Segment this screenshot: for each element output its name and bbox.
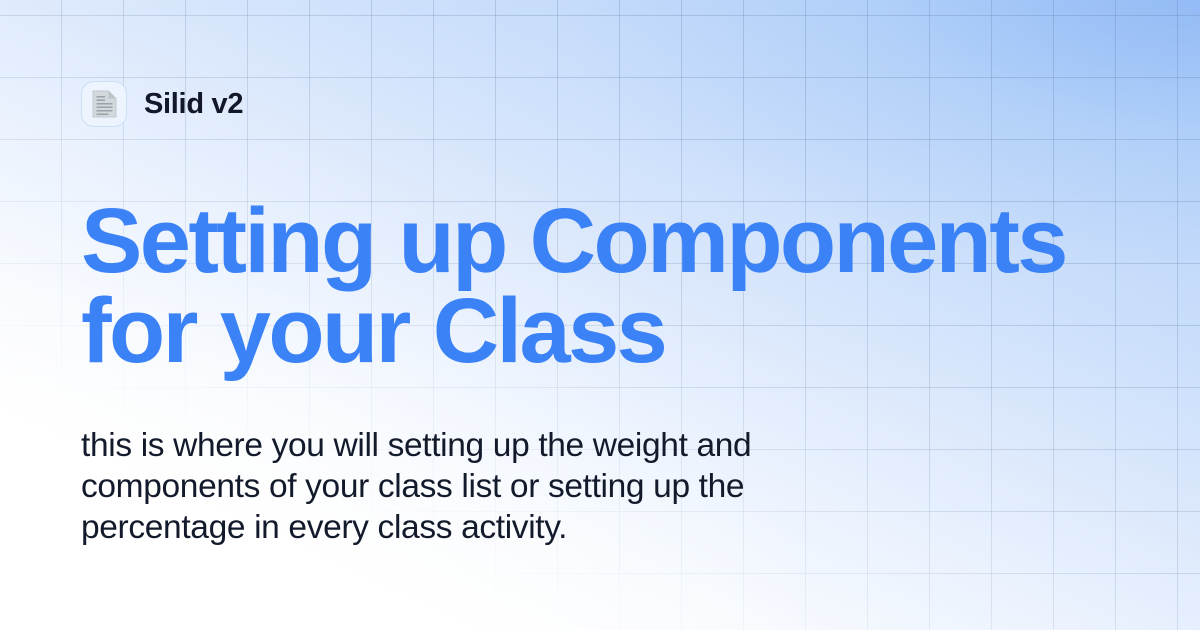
card-content: Silid v2 Setting up Components for your … — [81, 0, 1140, 630]
brand-lockup: Silid v2 — [81, 81, 243, 127]
document-page-icon — [91, 89, 118, 119]
page-title: Setting up Components for your Class — [81, 196, 1091, 376]
og-card: Silid v2 Setting up Components for your … — [0, 0, 1200, 630]
brand-badge — [81, 81, 127, 127]
brand-name: Silid v2 — [144, 90, 243, 119]
page-subtitle: this is where you will setting up the we… — [81, 425, 851, 548]
